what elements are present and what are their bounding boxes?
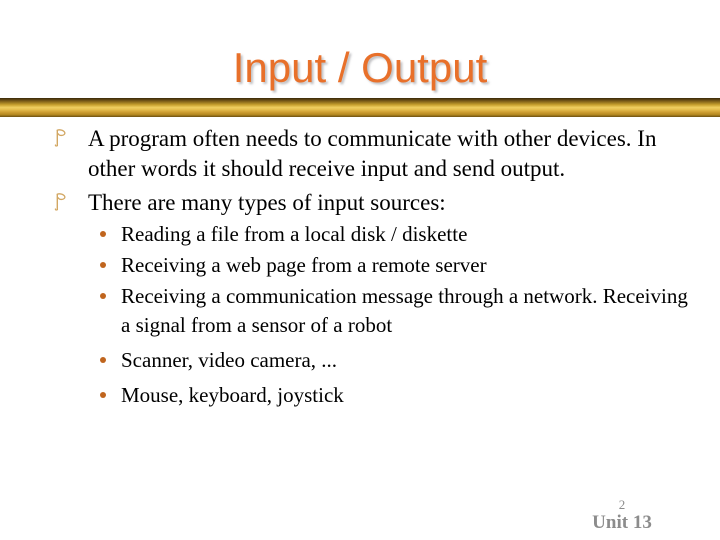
title-divider-bar	[0, 98, 720, 117]
page-title: Input / Output	[233, 47, 488, 89]
sub-bullet-text: Receiving a communication message throug…	[121, 284, 688, 337]
dot-bullet-icon	[100, 231, 106, 237]
presentation-slide: Input / Output A program often needs to …	[0, 0, 720, 540]
slide-footer: 2 Unit 13	[542, 497, 702, 534]
bullet-item-level2: Scanner, video camera, ...	[48, 346, 696, 375]
flag-bullet-icon	[53, 128, 67, 146]
dot-bullet-icon	[100, 293, 106, 299]
sub-bullet-text: Scanner, video camera, ...	[121, 348, 337, 372]
sub-bullet-list: Reading a file from a local disk / diske…	[48, 220, 696, 410]
sub-bullet-text: Receiving a web page from a remote serve…	[121, 253, 487, 277]
slide-body: A program often needs to communicate wit…	[48, 124, 696, 412]
dot-bullet-icon	[100, 392, 106, 398]
bullet-text: There are many types of input sources:	[88, 190, 446, 215]
bullet-item-level1: There are many types of input sources:	[48, 188, 696, 218]
sub-bullet-text: Mouse, keyboard, joystick	[121, 383, 344, 407]
bullet-item-level2: Mouse, keyboard, joystick	[48, 381, 696, 410]
flag-bullet-icon	[53, 192, 67, 210]
slide-title-container: Input / Output	[0, 38, 720, 98]
sub-bullet-text: Reading a file from a local disk / diske…	[121, 222, 467, 246]
dot-bullet-icon	[100, 357, 106, 363]
bullet-item-level2: Receiving a web page from a remote serve…	[48, 251, 696, 280]
bullet-text: A program often needs to communicate wit…	[88, 126, 656, 181]
bullet-item-level2: Receiving a communication message throug…	[48, 282, 696, 340]
bullet-item-level2: Reading a file from a local disk / diske…	[48, 220, 696, 249]
bullet-item-level1: A program often needs to communicate wit…	[48, 124, 696, 184]
page-number: 2	[542, 497, 702, 512]
dot-bullet-icon	[100, 262, 106, 268]
unit-label: Unit 13	[542, 512, 702, 534]
